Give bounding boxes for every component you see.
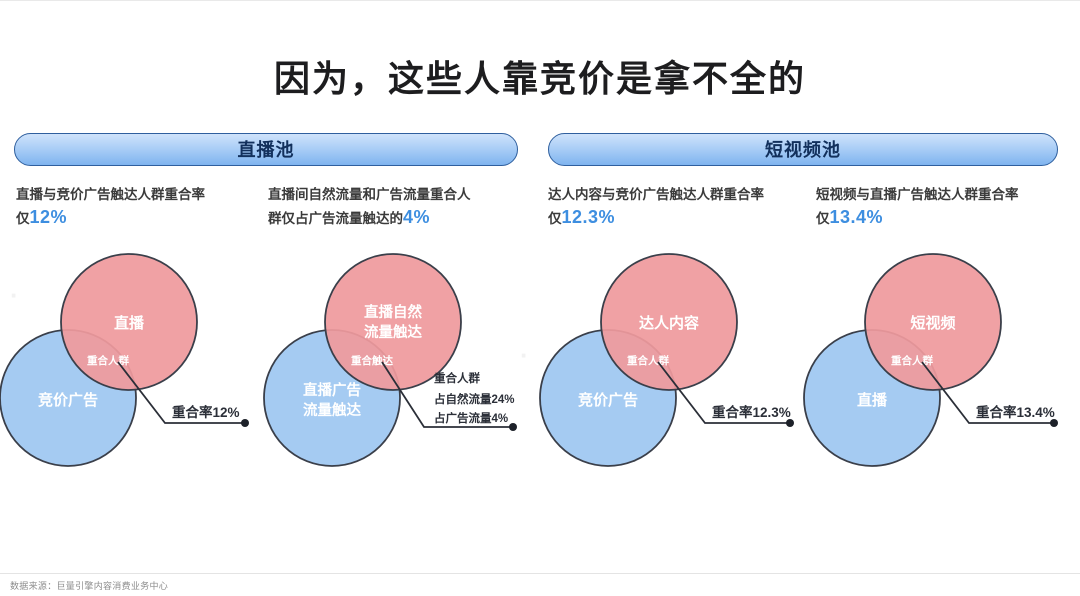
venn2-callout-line bbox=[382, 362, 512, 427]
venn3-callout-text-0: 重合率12.3% bbox=[712, 404, 791, 420]
venn2-callout-text-2: 占广告流量4% bbox=[434, 411, 508, 425]
venn2-callout-text-0: 重合人群 bbox=[434, 371, 480, 385]
venn2-label-bottom-line2: 流量触达 bbox=[303, 401, 361, 419]
caption-sv-2: 短视频与直播广告触达人群重合率 仅13.4% bbox=[816, 183, 1068, 230]
venn1-label-bottom: 竞价广告 bbox=[38, 391, 98, 409]
venn-creator-vs-bid-ads: 达人内容 重合人群 竞价广告 重合率12.3% bbox=[540, 254, 794, 466]
venn2-circle-top bbox=[325, 254, 461, 390]
caption-live-2-prefix: 群仅占广告流量触达的 bbox=[268, 211, 403, 226]
venn3-circle-bottom bbox=[540, 330, 676, 466]
venn1-label-top: 直播 bbox=[114, 314, 145, 332]
venn3-callout-line bbox=[658, 362, 789, 423]
caption-sv-2-prefix: 仅 bbox=[816, 211, 830, 226]
caption-sv-1: 达人内容与竞价广告触达人群重合率 仅12.3% bbox=[548, 183, 800, 230]
panel-short-video-pool: 短视频池 达人内容与竞价广告触达人群重合率 仅12.3% 短视频与直播广告触达人… bbox=[548, 133, 1058, 235]
venn3-circle-top bbox=[601, 254, 737, 390]
venn1-circle-bottom bbox=[0, 330, 136, 466]
caption-sv-2-pct: 13.4% bbox=[830, 207, 884, 227]
caption-live-1-prefix: 仅 bbox=[16, 211, 30, 226]
venn1-callout-endpoint bbox=[241, 419, 249, 427]
venn2-label-top-line2: 流量触达 bbox=[364, 323, 422, 341]
caption-sv-1-line1: 达人内容与竞价广告触达人群重合率 bbox=[548, 187, 764, 202]
venn-live-organic-vs-live-ads: 直播自然 流量触达 重合触达 直播广告 流量触达 重合人群 占自然流量24% 占… bbox=[264, 254, 517, 466]
caption-sv-1-prefix: 仅 bbox=[548, 211, 562, 226]
caption-sv-2-line1: 短视频与直播广告触达人群重合率 bbox=[816, 187, 1019, 202]
venn4-callout-endpoint bbox=[1050, 419, 1058, 427]
venn2-circle-bottom bbox=[264, 330, 400, 466]
venn3-label-overlap: 重合人群 bbox=[627, 354, 669, 367]
venn-live-vs-bid-ads: 直播 重合人群 竞价广告 重合率12% bbox=[0, 254, 249, 466]
venn2-callout-endpoint bbox=[509, 423, 517, 431]
caption-live-1-line1: 直播与竞价广告触达人群重合率 bbox=[16, 187, 205, 202]
venn3-label-bottom: 竞价广告 bbox=[578, 391, 638, 409]
caption-row-live: 直播与竞价广告触达人群重合率 仅12% 直播间自然流量和广告流量重合人 群仅占广… bbox=[14, 183, 518, 235]
caption-live-2: 直播间自然流量和广告流量重合人 群仅占广告流量触达的4% bbox=[268, 183, 518, 230]
caption-live-2-line1: 直播间自然流量和广告流量重合人 bbox=[268, 187, 471, 202]
venn4-label-top: 短视频 bbox=[910, 314, 955, 332]
venn2-callout-text-1: 占自然流量24% bbox=[434, 392, 515, 406]
venn4-circle-top bbox=[865, 254, 1001, 390]
venn-short-video-vs-live: 短视频 重合人群 直播 重合率13.4% bbox=[804, 254, 1058, 466]
watermark-center: · bbox=[520, 340, 532, 371]
venn4-label-overlap: 重合人群 bbox=[891, 354, 933, 367]
caption-row-short-video: 达人内容与竞价广告触达人群重合率 仅12.3% 短视频与直播广告触达人群重合率 … bbox=[548, 183, 1058, 235]
caption-live-2-pct: 4% bbox=[403, 207, 430, 227]
venn4-callout-text-0: 重合率13.4% bbox=[976, 404, 1055, 420]
venn4-label-bottom: 直播 bbox=[857, 391, 888, 409]
page-title: 因为，这些人靠竞价是拿不全的 bbox=[0, 50, 1080, 102]
venn1-label-overlap: 重合人群 bbox=[87, 354, 129, 367]
pool-header-short-video: 短视频池 bbox=[548, 133, 1058, 166]
pool-header-live: 直播池 bbox=[14, 133, 518, 166]
top-divider bbox=[0, 0, 1080, 1]
pool-label-short-video: 短视频池 bbox=[765, 141, 841, 159]
venn3-label-top: 达人内容 bbox=[639, 314, 699, 332]
venn2-label-overlap: 重合触达 bbox=[351, 354, 393, 367]
caption-live-1-pct: 12% bbox=[30, 207, 68, 227]
venn4-callout-line bbox=[922, 362, 1053, 423]
venn4-circle-bottom bbox=[804, 330, 940, 466]
watermark-left: · bbox=[10, 280, 22, 311]
venn1-callout-line bbox=[118, 362, 244, 423]
caption-sv-1-pct: 12.3% bbox=[562, 207, 616, 227]
venn1-callout-text-0: 重合率12% bbox=[172, 404, 240, 420]
footer-divider bbox=[0, 573, 1080, 574]
venn2-label-bottom: 直播广告 bbox=[303, 381, 361, 399]
caption-live-1: 直播与竞价广告触达人群重合率 仅12% bbox=[16, 183, 266, 230]
venn1-circle-top bbox=[61, 254, 197, 390]
panel-live-pool: 直播池 直播与竞价广告触达人群重合率 仅12% 直播间自然流量和广告流量重合人 … bbox=[14, 133, 518, 235]
footer-source: 数据来源：巨量引擎内容消费业务中心 bbox=[10, 579, 168, 592]
venn3-callout-endpoint bbox=[786, 419, 794, 427]
pool-label-live: 直播池 bbox=[238, 141, 295, 159]
venn2-label-top: 直播自然 bbox=[364, 303, 422, 321]
